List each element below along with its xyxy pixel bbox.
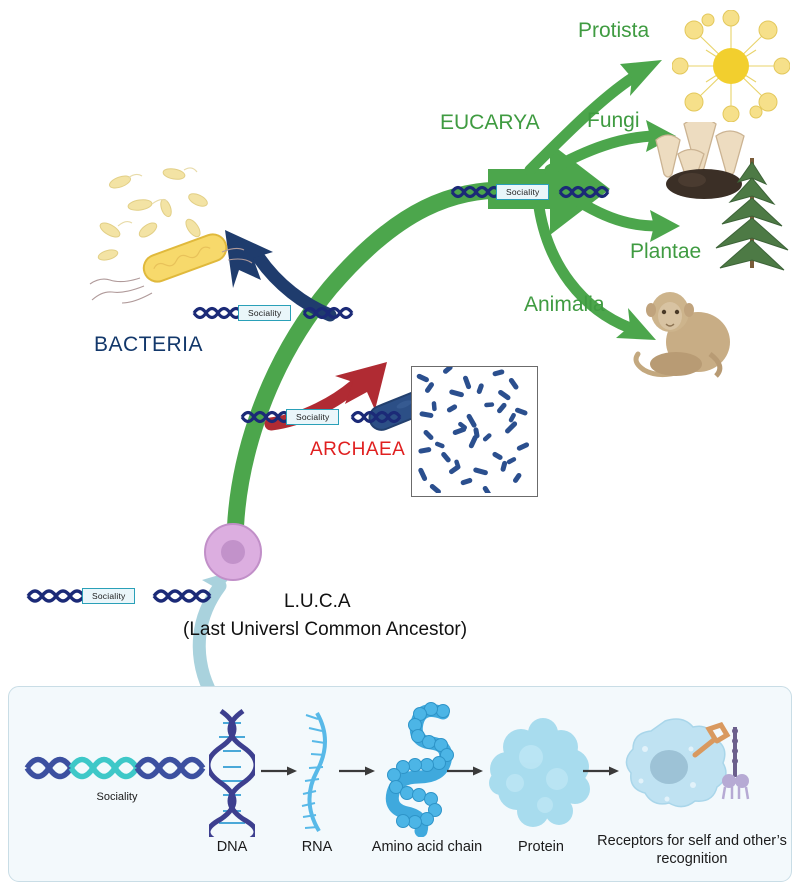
step-caption-receptor: Receptors for self and other’s bbox=[587, 833, 797, 850]
step-caption-aminoacid: Amino acid chain bbox=[357, 839, 497, 856]
molecular-pathway-panel: Sociality DNA RNA bbox=[8, 686, 792, 882]
arrow-rna-to-aminoacid bbox=[339, 765, 377, 777]
gene-tag-label: Sociality bbox=[286, 409, 339, 426]
step-caption-dna: DNA bbox=[192, 839, 272, 856]
domain-label-eucarya: EUCARYA bbox=[440, 112, 540, 133]
step-caption-receptor-line2: recognition bbox=[587, 851, 797, 868]
domain-label-bacteria: BACTERIA bbox=[94, 334, 203, 355]
gene-tag-eucarya[interactable]: Sociality bbox=[450, 179, 549, 205]
luca-label-short: L.U.C.A bbox=[284, 592, 351, 611]
dna-helix-icon bbox=[209, 707, 255, 837]
bacterium-icon bbox=[88, 160, 273, 305]
rna-strand-icon bbox=[297, 711, 337, 833]
gene-tag-label: Sociality bbox=[82, 588, 135, 605]
protist-icon bbox=[672, 10, 790, 122]
step-caption-protein: Protein bbox=[496, 839, 586, 856]
kingdom-label-fungi: Fungi bbox=[587, 110, 640, 131]
kingdom-label-protista: Protista bbox=[578, 20, 649, 41]
arrow-aminoacid-to-protein bbox=[447, 765, 485, 777]
kingdom-label-plantae: Plantae bbox=[630, 241, 701, 262]
receptor-cell-icon bbox=[617, 715, 757, 825]
protein-blob-icon bbox=[487, 717, 597, 827]
sociality-dna-label: Sociality bbox=[57, 791, 177, 804]
domain-label-archaea: ARCHAEA bbox=[310, 440, 405, 459]
gene-tag-label: Sociality bbox=[238, 305, 291, 322]
arrow-protein-to-receptor bbox=[583, 765, 621, 777]
gene-tag-bacteria[interactable]: Sociality bbox=[192, 300, 291, 326]
conifer-tree-icon bbox=[700, 152, 794, 272]
archaea-micrograph bbox=[411, 366, 538, 497]
arrow-dna-to-rna bbox=[261, 765, 299, 777]
gene-tag-archaea[interactable]: Sociality bbox=[240, 404, 339, 430]
kingdom-label-animalia: Animalia bbox=[524, 294, 605, 315]
luca-cell-icon bbox=[200, 519, 266, 585]
sociality-dna-icon bbox=[23, 745, 213, 791]
gene-tag-luca[interactable]: Sociality bbox=[26, 583, 135, 609]
step-caption-rna: RNA bbox=[277, 839, 357, 856]
luca-label-full: (Last Universl Common Ancestor) bbox=[183, 620, 467, 639]
gene-tag-label: Sociality bbox=[496, 184, 549, 201]
monkey-icon bbox=[624, 284, 760, 380]
